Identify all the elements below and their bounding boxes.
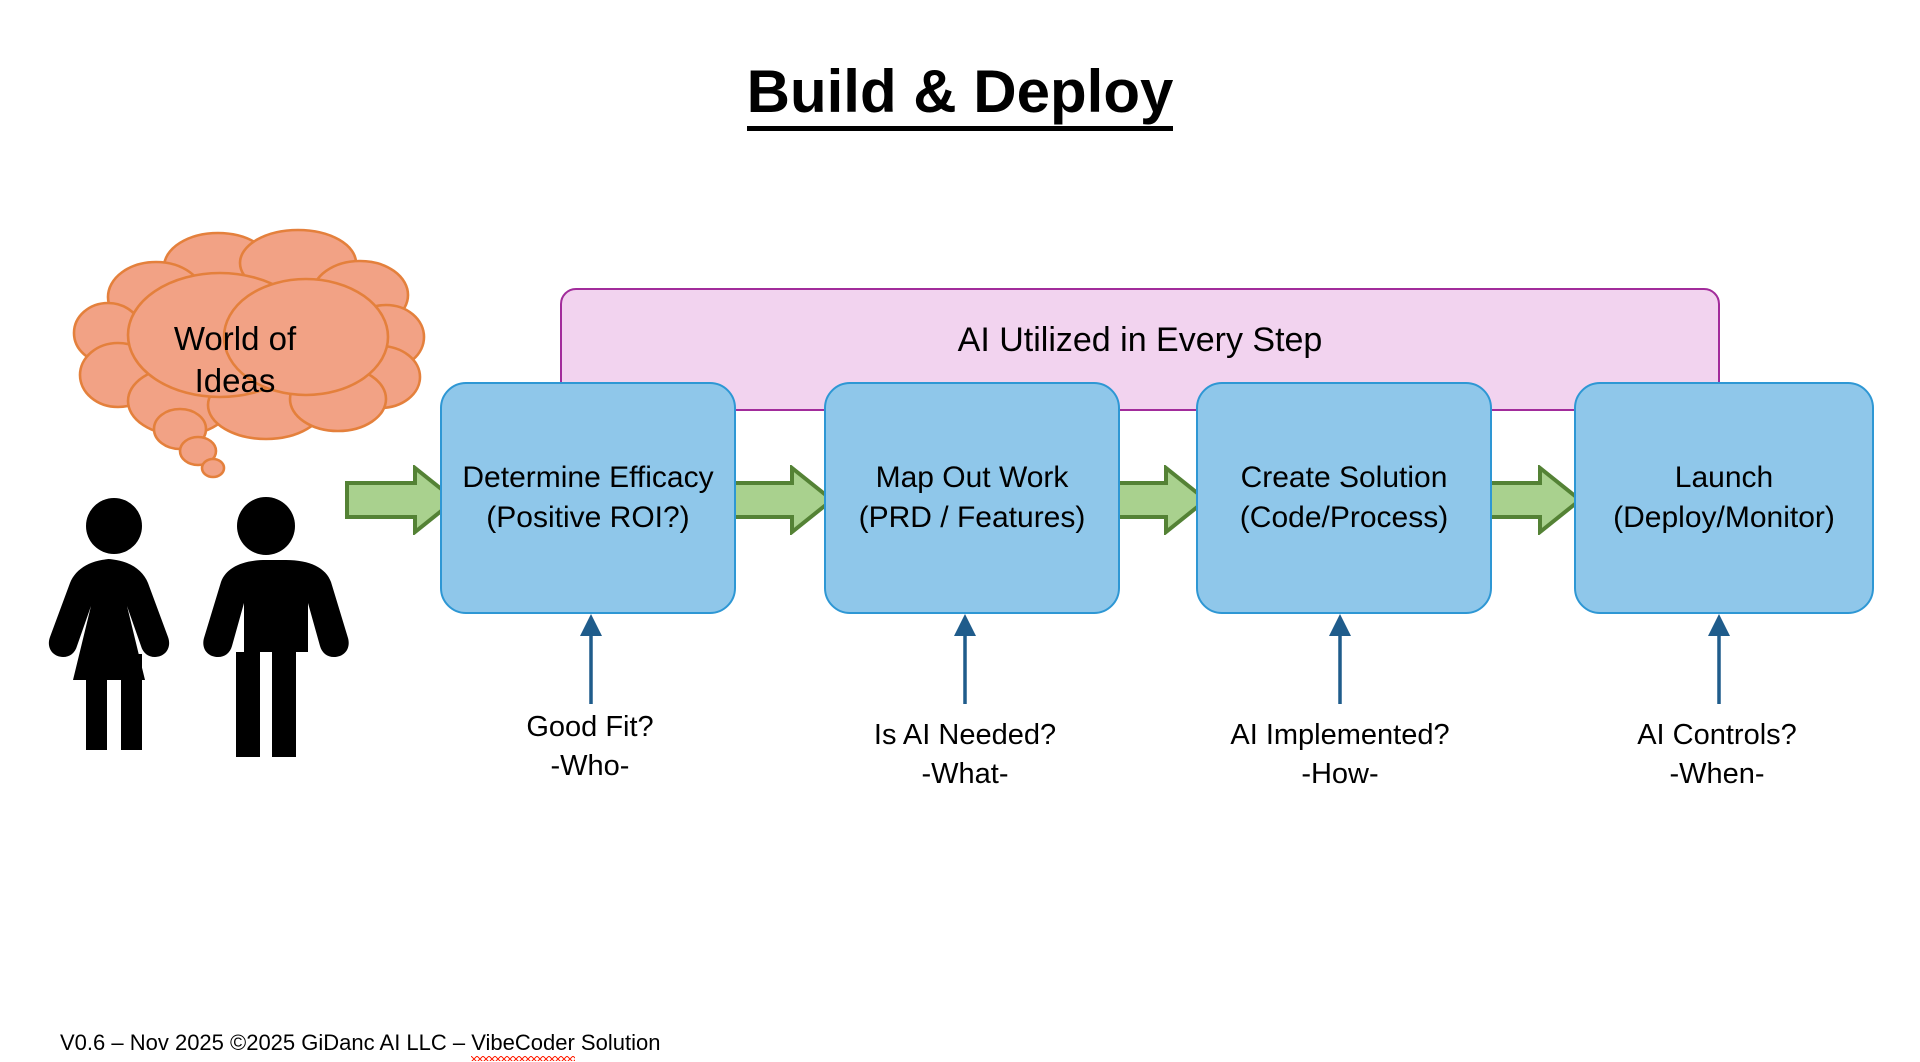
process-step-2-line-1: Map Out Work xyxy=(876,458,1069,498)
step-3-caption-line-2: -How- xyxy=(1175,755,1505,794)
footer-misspelled-word: VibeCoder xyxy=(471,1030,575,1056)
ai-utilized-banner-label: AI Utilized in Every Step xyxy=(562,321,1718,360)
process-step-3[interactable]: Create Solution (Code/Process) xyxy=(1196,382,1492,614)
process-step-4-line-2: (Deploy/Monitor) xyxy=(1613,498,1835,538)
process-step-1-line-2: (Positive ROI?) xyxy=(486,498,689,538)
flow-arrow-step-1-to-2 xyxy=(722,465,834,535)
step-2-caption-line-1: Is AI Needed? xyxy=(800,716,1130,755)
step-4-caption-line-1: AI Controls? xyxy=(1552,716,1882,755)
step-4-caption-line-2: -When- xyxy=(1552,755,1882,794)
process-step-2[interactable]: Map Out Work (PRD / Features) xyxy=(824,382,1120,614)
step-3-caption-line-1: AI Implemented? xyxy=(1175,716,1505,755)
process-step-3-line-1: Create Solution xyxy=(1241,458,1448,498)
man-pictogram xyxy=(203,497,348,757)
footer-suffix: Solution xyxy=(575,1030,661,1055)
step-1-caption-line-2: -Who- xyxy=(425,747,755,786)
process-step-4[interactable]: Launch (Deploy/Monitor) xyxy=(1574,382,1874,614)
process-step-1[interactable]: Determine Efficacy (Positive ROI?) xyxy=(440,382,736,614)
connector-arrow-step-4 xyxy=(1706,612,1732,704)
process-step-1-line-1: Determine Efficacy xyxy=(462,458,713,498)
connector-arrow-step-2 xyxy=(952,612,978,704)
page-title: Build & Deploy xyxy=(0,62,1920,131)
process-step-2-line-2: (PRD / Features) xyxy=(859,498,1086,538)
footer-prefix: V0.6 – Nov 2025 ©2025 GiDanc AI LLC – xyxy=(60,1030,471,1055)
page-title-text: Build & Deploy xyxy=(747,62,1174,131)
process-step-4-line-1: Launch xyxy=(1675,458,1773,498)
ai-utilized-banner: AI Utilized in Every Step xyxy=(560,288,1720,411)
step-1-caption-line-1: Good Fit? xyxy=(425,708,755,747)
connector-arrow-step-3 xyxy=(1327,612,1353,704)
footer-credit: V0.6 – Nov 2025 ©2025 GiDanc AI LLC – Vi… xyxy=(60,1030,660,1056)
slide-canvas: Build & Deploy xyxy=(0,0,1920,1062)
step-1-caption: Good Fit? -Who- xyxy=(425,708,755,785)
step-3-caption: AI Implemented? -How- xyxy=(1175,716,1505,793)
step-4-caption: AI Controls? -When- xyxy=(1552,716,1882,793)
woman-pictogram xyxy=(49,498,169,750)
process-step-3-line-2: (Code/Process) xyxy=(1240,498,1448,538)
connector-arrow-step-1 xyxy=(578,612,604,704)
step-2-caption-line-2: -What- xyxy=(800,755,1130,794)
people-pictograms xyxy=(38,487,358,807)
step-2-caption: Is AI Needed? -What- xyxy=(800,716,1130,793)
